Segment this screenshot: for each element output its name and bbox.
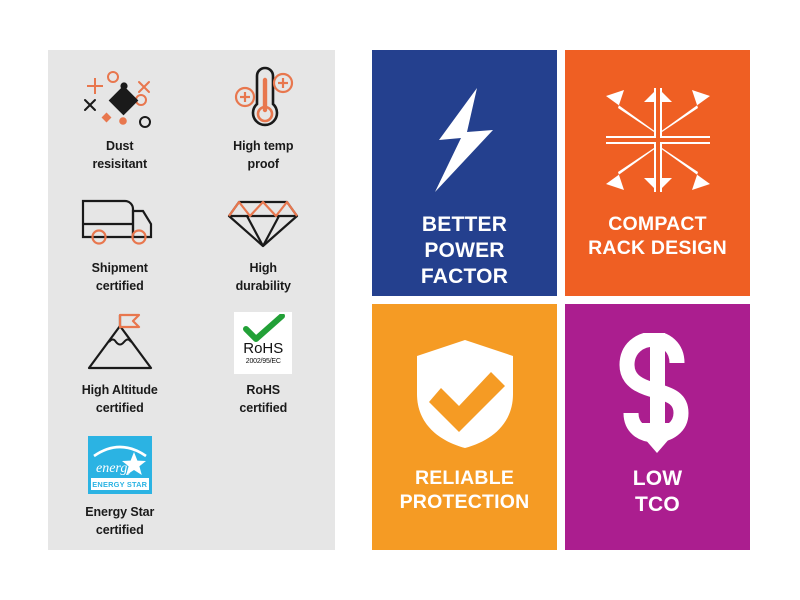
feature-card-reliable-protection[interactable]: RELIABLE PROTECTION — [372, 304, 557, 550]
feature-label: COMPACT RACK DESIGN — [582, 212, 733, 260]
cert-label: RoHS certified — [239, 382, 287, 418]
diamond-icon — [223, 188, 303, 254]
cert-item-energy-star-certified: energy ENERGY STAR Energy Star certified — [48, 426, 192, 548]
green-check-icon — [238, 314, 288, 342]
cert-label: Dust resisitant — [92, 138, 147, 174]
shield-check-icon — [413, 334, 517, 454]
compact-arrows-icon — [602, 80, 714, 200]
certifications-panel: Dust resisitant — [48, 50, 335, 550]
cert-label: High temp proof — [233, 138, 293, 174]
energy-star-badge-icon: energy ENERGY STAR — [88, 432, 152, 498]
cert-item-shipment-certified: Shipment certified — [48, 182, 192, 304]
svg-text:energy: energy — [96, 461, 134, 476]
dust-particles-icon — [79, 66, 161, 132]
feature-cards-grid: BETTER POWER FACTOR COMPACT RACK DESIGN — [372, 50, 750, 550]
dollar-down-arrow-icon — [609, 334, 707, 454]
energy-star-mark: energy — [88, 436, 152, 484]
rohs-directive: 2002/95/EC — [246, 358, 281, 365]
cert-item-high-altitude-certified: High Altitude certified — [48, 304, 192, 426]
thermometer-icon — [227, 66, 299, 132]
certifications-grid: Dust resisitant — [48, 60, 335, 548]
cert-label: Shipment certified — [92, 260, 148, 296]
cert-label: High Altitude certified — [82, 382, 158, 418]
lightning-bolt-icon — [419, 80, 511, 200]
delivery-truck-icon — [77, 188, 163, 254]
feature-card-better-power-factor[interactable]: BETTER POWER FACTOR — [372, 50, 557, 296]
mountain-flag-icon — [81, 310, 159, 376]
energy-star-bar-text: ENERGY STAR — [91, 478, 149, 490]
feature-card-low-tco[interactable]: LOW TCO — [565, 304, 750, 550]
cert-label: High durability — [236, 260, 291, 296]
rohs-badge: RoHS 2002/95/EC — [234, 312, 292, 374]
feature-card-compact-rack-design[interactable]: COMPACT RACK DESIGN — [565, 50, 750, 296]
cert-item-dust-resistant: Dust resisitant — [48, 60, 192, 182]
cert-item-high-temp-proof: High temp proof — [192, 60, 336, 182]
feature-label: LOW TCO — [627, 466, 689, 518]
cert-item-high-durability: High durability — [192, 182, 336, 304]
cert-item-rohs-certified: RoHS 2002/95/EC RoHS certified — [192, 304, 336, 426]
rohs-badge-icon: RoHS 2002/95/EC — [234, 310, 292, 376]
feature-label: BETTER POWER FACTOR — [415, 212, 514, 290]
rohs-word: RoHS — [243, 341, 283, 356]
feature-label: RELIABLE PROTECTION — [394, 466, 536, 514]
cert-label: Energy Star certified — [85, 504, 154, 540]
energy-star-badge: energy ENERGY STAR — [88, 436, 152, 494]
